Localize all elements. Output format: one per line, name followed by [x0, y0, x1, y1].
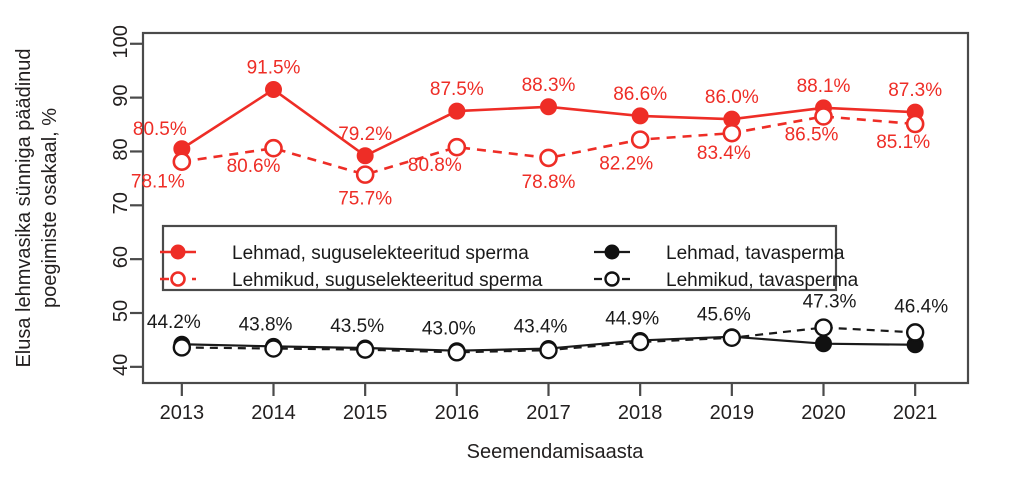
- data-point-label: 80.5%: [133, 119, 187, 140]
- data-point-label: 83.4%: [697, 143, 751, 164]
- data-point: [266, 82, 282, 98]
- x-tick-label: 2019: [710, 402, 755, 424]
- legend-marker: [606, 273, 619, 286]
- data-point-label: 88.3%: [522, 75, 576, 96]
- legend-label: Lehmikud, suguselekteeritud sperma: [232, 270, 543, 291]
- data-point-label: 87.5%: [430, 79, 484, 100]
- data-point-label: 43.8%: [239, 314, 293, 335]
- data-point-label: 86.5%: [785, 124, 839, 145]
- data-point-label: 80.8%: [408, 155, 462, 176]
- chart-figure: 405060708090100 201320142015201620172018…: [0, 0, 1024, 498]
- legend-marker: [605, 245, 619, 259]
- y-tick-label: 40: [110, 354, 132, 376]
- y-tick-label: 50: [110, 300, 132, 322]
- data-point: [174, 154, 190, 170]
- data-point: [266, 341, 282, 357]
- data-point-label: 47.3%: [803, 292, 857, 313]
- x-axis-ticks: 201320142015201620172018201920202021: [160, 383, 938, 424]
- data-point-label: 86.0%: [705, 87, 759, 108]
- chart-legend: Lehmad, suguselekteeritud spermaLehmikud…: [160, 226, 859, 291]
- data-point: [449, 139, 465, 155]
- data-point-label: 85.1%: [876, 132, 930, 153]
- y-tick-label: 60: [110, 246, 132, 268]
- data-point: [357, 167, 373, 183]
- data-point-label: 78.8%: [522, 172, 576, 193]
- data-point: [541, 99, 557, 115]
- y-tick-label: 90: [110, 84, 132, 106]
- data-point: [357, 342, 373, 358]
- data-point-label: 44.9%: [605, 308, 659, 329]
- data-point-label: 91.5%: [247, 58, 301, 79]
- x-tick-label: 2016: [435, 402, 480, 424]
- data-point: [357, 148, 373, 164]
- x-tick-label: 2014: [251, 402, 296, 424]
- data-point: [907, 324, 923, 340]
- data-point-label: 88.1%: [797, 76, 851, 97]
- data-point-label: 45.6%: [697, 305, 751, 326]
- x-tick-label: 2017: [526, 402, 571, 424]
- data-point-label: 78.1%: [131, 172, 185, 193]
- y-axis-ticks: 405060708090100: [110, 25, 143, 376]
- data-point: [174, 339, 190, 355]
- data-point: [266, 140, 282, 156]
- legend-marker: [172, 273, 185, 286]
- data-point: [816, 336, 832, 352]
- data-point-label: 79.2%: [338, 124, 392, 145]
- x-tick-label: 2018: [618, 402, 663, 424]
- data-point-label: 43.4%: [514, 317, 568, 338]
- data-point-label: 82.2%: [599, 154, 653, 175]
- data-point-label: 43.0%: [422, 319, 476, 340]
- data-point: [724, 330, 740, 346]
- data-point: [541, 150, 557, 166]
- data-point: [632, 334, 648, 350]
- legend-marker: [171, 245, 185, 259]
- data-point-label: 87.3%: [888, 80, 942, 101]
- y-tick-label: 100: [110, 25, 132, 58]
- data-point: [449, 344, 465, 360]
- data-point-label: 43.5%: [330, 316, 384, 337]
- data-point: [816, 108, 832, 124]
- data-point: [541, 342, 557, 358]
- data-point: [907, 116, 923, 132]
- y-axis-title-line2: poegimiste osakaal, %: [39, 108, 61, 308]
- data-point-label: 46.4%: [894, 296, 948, 317]
- data-point-label: 75.7%: [338, 189, 392, 210]
- legend-label: Lehmad, tavasperma: [666, 243, 845, 264]
- y-axis-title-line1: Elusa lehmvasika sünniga päädinud: [13, 48, 35, 367]
- data-point: [816, 320, 832, 336]
- data-point-label: 44.2%: [147, 312, 201, 333]
- x-axis-title: Seemendamisaasta: [467, 441, 645, 463]
- data-point: [632, 108, 648, 124]
- legend-label: Lehmikud, tavasperma: [666, 270, 859, 291]
- x-tick-label: 2021: [893, 402, 938, 424]
- data-point: [632, 132, 648, 148]
- x-tick-label: 2013: [160, 402, 205, 424]
- data-point: [449, 103, 465, 119]
- x-tick-label: 2015: [343, 402, 388, 424]
- legend-label: Lehmad, suguselekteeritud sperma: [232, 243, 529, 264]
- y-tick-label: 70: [110, 192, 132, 214]
- line-chart: 405060708090100 201320142015201620172018…: [0, 0, 1024, 498]
- data-point-label: 80.6%: [227, 156, 281, 177]
- x-tick-label: 2020: [801, 402, 846, 424]
- data-point-label: 86.6%: [613, 84, 667, 105]
- data-point: [724, 125, 740, 141]
- y-tick-label: 80: [110, 138, 132, 160]
